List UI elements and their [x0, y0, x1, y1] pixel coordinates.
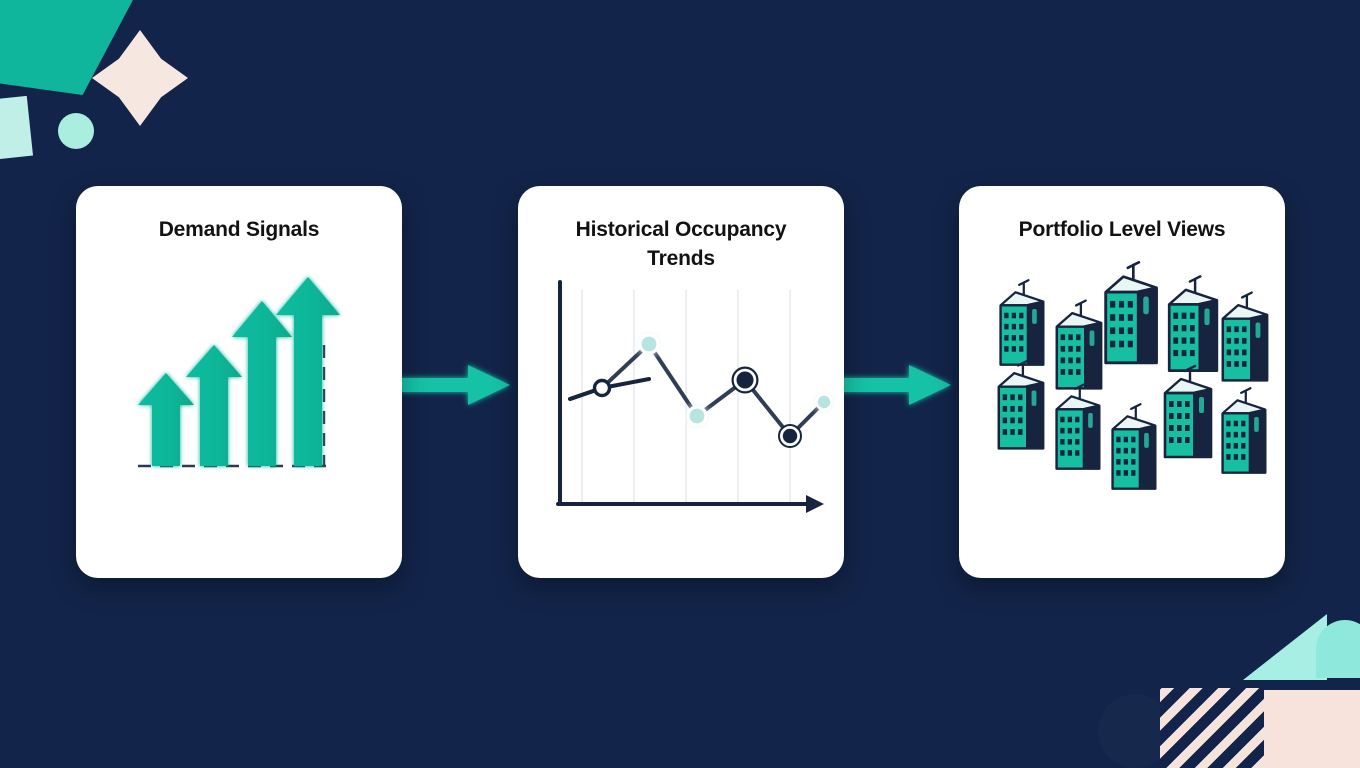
building-icons [999, 262, 1267, 488]
building-icon [1165, 366, 1211, 457]
card-portfolio-level-views[interactable]: Portfolio Level Views [959, 186, 1285, 578]
slide-canvas: Demand Signals [0, 0, 1360, 768]
building-icon [1057, 384, 1100, 469]
data-point [688, 407, 706, 425]
chart-data-points [595, 335, 832, 447]
x-axis-arrowhead [806, 495, 824, 513]
building-icon [1057, 301, 1101, 389]
card-historical-occupancy-trends[interactable]: Historical Occupancy Trends [518, 186, 844, 578]
data-point [735, 370, 755, 390]
data-point [595, 380, 610, 395]
card-demand-signals[interactable]: Demand Signals [76, 186, 402, 578]
building-icon [1106, 262, 1157, 362]
building-icon [1223, 293, 1267, 381]
data-point [817, 394, 832, 409]
building-cluster [959, 245, 1285, 545]
card-title: Demand Signals [104, 216, 374, 245]
building-icon [1169, 276, 1217, 370]
demand-signals-illustration [76, 245, 402, 578]
card-title: Portfolio Level Views [987, 216, 1257, 245]
occupancy-trends-illustration [518, 274, 844, 578]
line-chart [518, 274, 844, 562]
portfolio-buildings-illustration [959, 245, 1285, 578]
building-icon [1001, 280, 1044, 365]
building-icon [1223, 388, 1266, 473]
arrow-bars [138, 277, 340, 466]
data-point [640, 335, 658, 353]
card-title: Historical Occupancy Trends [546, 216, 816, 274]
ascending-arrows-chart [76, 245, 402, 545]
building-icon [1113, 404, 1156, 489]
data-point [781, 427, 798, 444]
building-icon [999, 361, 1043, 449]
